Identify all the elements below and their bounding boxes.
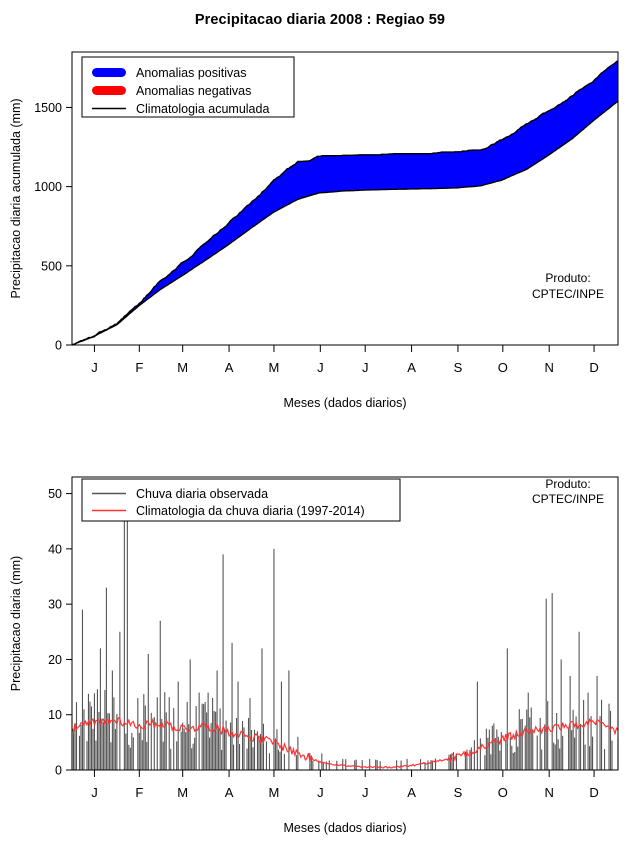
svg-text:A: A: [225, 785, 234, 800]
svg-text:J: J: [91, 785, 98, 800]
svg-text:J: J: [362, 360, 369, 375]
svg-text:A: A: [407, 360, 416, 375]
svg-text:Precipitacao diaria acumulada: Precipitacao diaria acumulada (mm): [9, 98, 23, 298]
svg-text:40: 40: [48, 542, 62, 556]
daily-precipitation-chart: 01020304050JFMAMJJASONDMeses (dados diar…: [0, 455, 640, 850]
svg-text:30: 30: [48, 598, 62, 612]
svg-text:10: 10: [48, 708, 62, 722]
svg-text:Climatologia da chuva diaria (: Climatologia da chuva diaria (1997-2014): [136, 504, 365, 518]
accumulated-plot-area: 050010001500JFMAMJJASONDMeses (dados dia…: [0, 30, 640, 450]
svg-text:0: 0: [55, 764, 62, 778]
svg-text:J: J: [362, 785, 369, 800]
svg-text:Anomalias positivas: Anomalias positivas: [136, 66, 246, 80]
svg-text:20: 20: [48, 653, 62, 667]
svg-text:S: S: [454, 360, 463, 375]
svg-text:M: M: [177, 785, 188, 800]
svg-text:N: N: [544, 785, 553, 800]
svg-text:CPTEC/INPE: CPTEC/INPE: [532, 492, 604, 506]
accumulated-precipitation-chart: 050010001500JFMAMJJASONDMeses (dados dia…: [0, 30, 640, 450]
svg-text:S: S: [454, 785, 463, 800]
svg-text:1500: 1500: [34, 101, 62, 115]
svg-text:O: O: [498, 785, 508, 800]
svg-text:Meses (dados diarios): Meses (dados diarios): [284, 821, 407, 835]
svg-text:Precipitacao diaria (mm): Precipitacao diaria (mm): [9, 556, 23, 691]
svg-text:J: J: [317, 360, 324, 375]
svg-text:D: D: [589, 360, 598, 375]
svg-text:Produto:: Produto:: [545, 271, 590, 285]
svg-text:Meses (dados diarios): Meses (dados diarios): [284, 396, 407, 410]
daily-plot-area: 01020304050JFMAMJJASONDMeses (dados diar…: [0, 455, 640, 850]
svg-text:J: J: [317, 785, 324, 800]
svg-text:F: F: [135, 360, 143, 375]
svg-text:0: 0: [55, 339, 62, 353]
svg-text:J: J: [91, 360, 98, 375]
svg-text:A: A: [225, 360, 234, 375]
svg-text:M: M: [269, 360, 280, 375]
svg-text:A: A: [407, 785, 416, 800]
svg-text:500: 500: [41, 259, 62, 273]
svg-text:Produto:: Produto:: [545, 477, 590, 491]
svg-text:M: M: [269, 785, 280, 800]
svg-text:Chuva diaria observada: Chuva diaria observada: [136, 487, 268, 501]
chart-page: Precipitacao diaria 2008 : Regiao 59 050…: [0, 0, 640, 850]
svg-text:CPTEC/INPE: CPTEC/INPE: [532, 287, 604, 301]
page-title: Precipitacao diaria 2008 : Regiao 59: [0, 12, 640, 28]
svg-text:Anomalias negativas: Anomalias negativas: [136, 84, 251, 98]
svg-text:M: M: [177, 360, 188, 375]
svg-text:Climatologia acumulada: Climatologia acumulada: [136, 102, 269, 116]
svg-text:50: 50: [48, 487, 62, 501]
svg-text:N: N: [544, 360, 553, 375]
svg-text:O: O: [498, 360, 508, 375]
svg-text:F: F: [135, 785, 143, 800]
svg-text:1000: 1000: [34, 180, 62, 194]
svg-text:D: D: [589, 785, 598, 800]
